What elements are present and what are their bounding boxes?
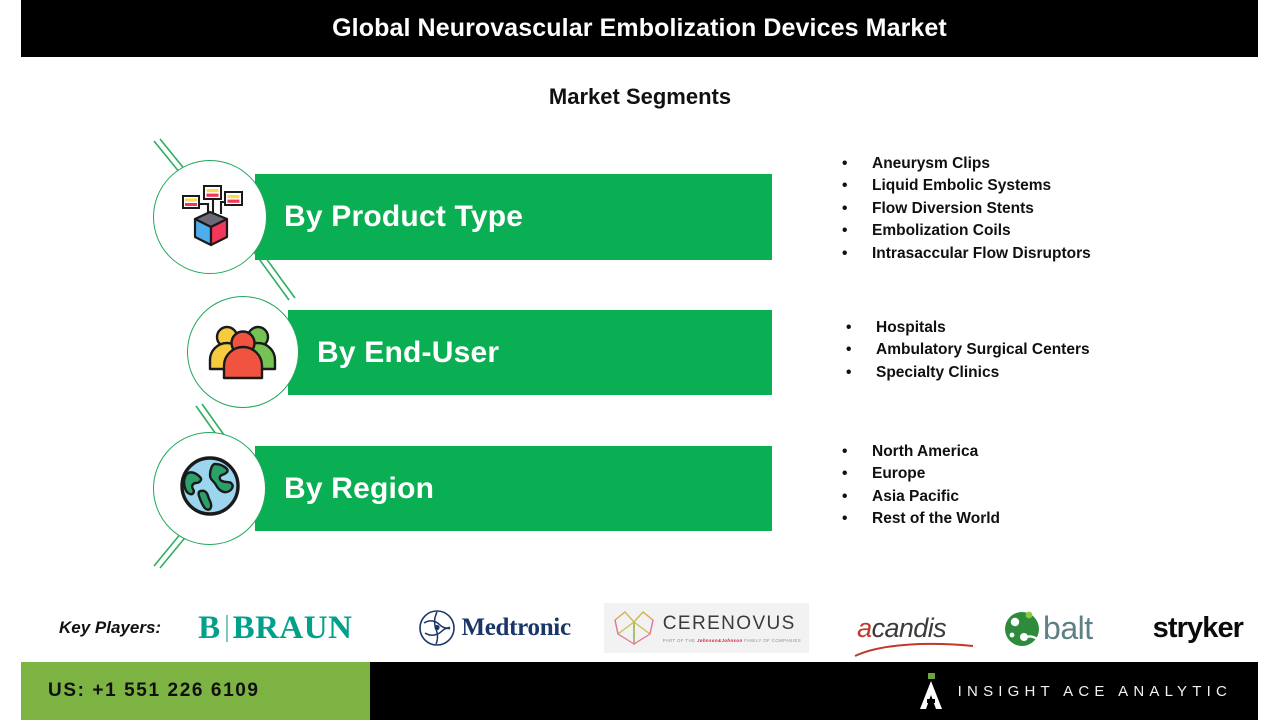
list-item: •Intrasaccular Flow Disruptors bbox=[842, 243, 1091, 265]
acandis-swoosh-icon bbox=[853, 639, 977, 659]
list-item: •Europe bbox=[842, 463, 1000, 485]
bullet-icon: • bbox=[842, 508, 872, 530]
bullet-icon: • bbox=[846, 317, 876, 339]
logo-cerenovus: CERENOVUS PART OF THE Johnson&Johnson FA… bbox=[604, 603, 809, 653]
list-item: •Rest of the World bbox=[842, 508, 1000, 530]
bullet-icon: • bbox=[842, 220, 872, 242]
logo-acandis: acandis bbox=[857, 600, 946, 656]
bullet-icon: • bbox=[842, 198, 872, 220]
medtronic-wordmark: Medtronic bbox=[461, 614, 570, 642]
key-players-strip: Key Players: B BRAUN Medtronic bbox=[21, 598, 1258, 658]
acandis-initial: a bbox=[857, 613, 871, 643]
bullet-icon: • bbox=[846, 339, 876, 361]
segment-label-product-type: By Product Type bbox=[284, 200, 523, 234]
segment-bar-region[interactable]: By Region bbox=[255, 446, 772, 531]
segment-icon-circle-end-user bbox=[187, 296, 299, 408]
list-item: •Liquid Embolic Systems bbox=[842, 175, 1091, 197]
medtronic-figure-icon bbox=[418, 609, 456, 647]
logo-balt: balt bbox=[1002, 600, 1093, 656]
cerenovus-tagline: PART OF THE Johnson&Johnson FAMILY OF CO… bbox=[663, 638, 801, 643]
bullet-icon: • bbox=[842, 153, 872, 175]
market-segments-area: By Product Type bbox=[0, 0, 1280, 600]
list-item: •Hospitals bbox=[846, 317, 1090, 339]
logo-medtronic: Medtronic bbox=[418, 600, 570, 656]
list-item-label: Hospitals bbox=[876, 317, 946, 339]
bullet-icon: • bbox=[846, 362, 876, 384]
bullet-icon: • bbox=[842, 243, 872, 265]
balt-circle-icon bbox=[1002, 606, 1046, 650]
cerenovus-tagline-pre: PART OF THE bbox=[663, 638, 696, 643]
bullet-icon: • bbox=[842, 441, 872, 463]
segment-icon-circle-product-type bbox=[153, 160, 267, 274]
footer-phone-bar: US: +1 551 226 6109 bbox=[21, 662, 370, 720]
bullet-list-product-type: •Aneurysm Clips •Liquid Embolic Systems … bbox=[842, 153, 1091, 265]
list-item-label: Intrasaccular Flow Disruptors bbox=[872, 243, 1091, 265]
bullet-list-end-user: •Hospitals •Ambulatory Surgical Centers … bbox=[846, 317, 1090, 384]
list-item: •Specialty Clinics bbox=[846, 362, 1090, 384]
phone-number[interactable]: US: +1 551 226 6109 bbox=[48, 680, 260, 702]
segment-bar-product-type[interactable]: By Product Type bbox=[255, 174, 772, 260]
list-item-label: Europe bbox=[872, 463, 925, 485]
list-item-label: Specialty Clinics bbox=[876, 362, 999, 384]
cerenovus-tagline-post: FAMILY OF COMPANIES bbox=[744, 638, 801, 643]
bullet-icon: • bbox=[842, 463, 872, 485]
key-players-label: Key Players: bbox=[59, 618, 161, 638]
list-item-label: Embolization Coils bbox=[872, 220, 1011, 242]
list-item-label: Rest of the World bbox=[872, 508, 1000, 530]
cerenovus-butterfly-icon bbox=[612, 608, 656, 648]
bullet-icon: • bbox=[842, 175, 872, 197]
list-item-label: Aneurysm Clips bbox=[872, 153, 990, 175]
bbraun-b: B bbox=[198, 610, 221, 647]
logo-bbraun: B BRAUN bbox=[198, 600, 352, 656]
bbraun-divider bbox=[226, 615, 228, 642]
segment-bar-end-user[interactable]: By End-User bbox=[288, 310, 772, 395]
balt-wordmark: balt bbox=[1043, 610, 1093, 647]
list-item: •Aneurysm Clips bbox=[842, 153, 1091, 175]
list-item: •Flow Diversion Stents bbox=[842, 198, 1091, 220]
product-cube-icon bbox=[173, 180, 247, 255]
cerenovus-wordmark: CERENOVUS bbox=[663, 613, 801, 635]
list-item-label: Flow Diversion Stents bbox=[872, 198, 1034, 220]
footer-brand-bar: INSIGHT ACE ANALYTIC bbox=[370, 662, 1258, 720]
list-item-label: Liquid Embolic Systems bbox=[872, 175, 1051, 197]
list-item-label: Ambulatory Surgical Centers bbox=[876, 339, 1090, 361]
stryker-wordmark: stryker bbox=[1153, 612, 1243, 645]
list-item: •Ambulatory Surgical Centers bbox=[846, 339, 1090, 361]
list-item: •Asia Pacific bbox=[842, 486, 1000, 508]
segment-icon-circle-region bbox=[153, 432, 266, 545]
segment-label-region: By Region bbox=[284, 472, 434, 506]
bullet-icon: • bbox=[842, 486, 872, 508]
list-item-label: North America bbox=[872, 441, 978, 463]
list-item: •North America bbox=[842, 441, 1000, 463]
cerenovus-tagline-jj: Johnson&Johnson bbox=[697, 638, 742, 643]
brand-name: INSIGHT ACE ANALYTIC bbox=[958, 683, 1232, 700]
logo-stryker: stryker bbox=[1153, 600, 1243, 656]
bullet-list-region: •North America •Europe •Asia Pacific •Re… bbox=[842, 441, 1000, 531]
bbraun-wordmark: BRAUN bbox=[233, 610, 353, 647]
acandis-rest: candis bbox=[872, 613, 946, 643]
segment-label-end-user: By End-User bbox=[317, 336, 499, 370]
globe-icon bbox=[175, 451, 245, 526]
insightace-logo-icon bbox=[918, 673, 944, 709]
list-item-label: Asia Pacific bbox=[872, 486, 959, 508]
list-item: •Embolization Coils bbox=[842, 220, 1091, 242]
users-group-icon bbox=[206, 319, 280, 386]
